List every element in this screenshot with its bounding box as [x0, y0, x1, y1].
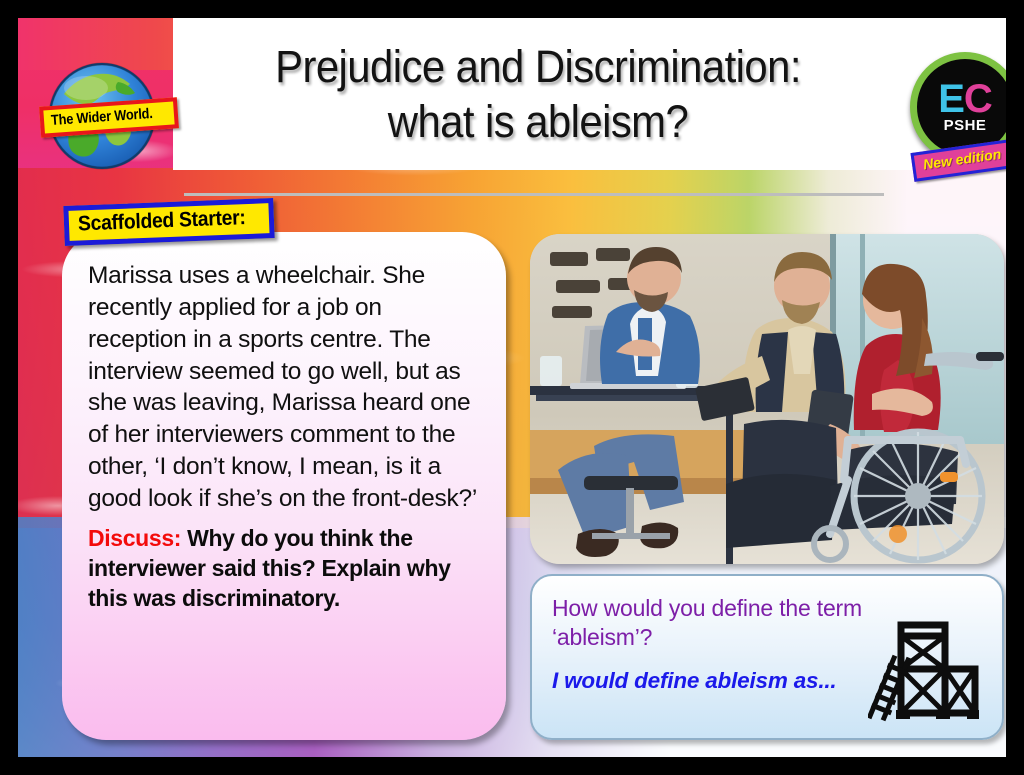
new-edition-label: New edition — [922, 146, 1002, 173]
meeting-photo — [530, 234, 1004, 564]
title-line-2: what is ableism? — [203, 95, 873, 150]
logo-subtitle: PSHE — [944, 117, 987, 134]
scaffolding-icon — [868, 618, 980, 722]
section-label-text: Scaffolded Starter: — [78, 206, 246, 236]
slide-canvas: Prejudice and Discrimination: what is ab… — [18, 18, 1006, 757]
page-title: Prejudice and Discrimination: what is ab… — [203, 40, 873, 150]
title-divider — [184, 193, 884, 196]
define-card: How would you define the term ‘ableism’?… — [530, 574, 1004, 740]
photo-image — [530, 234, 1004, 564]
logo-letter-e: E — [938, 77, 964, 121]
discuss-block: Discuss: Why do you think the interviewe… — [88, 524, 480, 614]
scenario-text: Marissa uses a wheelchair. She recently … — [88, 260, 480, 515]
brand-banner-label: The Wider World. — [51, 106, 154, 129]
define-question: How would you define the term ‘ableism’? — [552, 594, 872, 652]
scenario-card: Marissa uses a wheelchair. She recently … — [62, 232, 506, 740]
discuss-label: Discuss: — [88, 525, 181, 551]
logo-letters: EC — [938, 80, 992, 118]
title-line-1: Prejudice and Discrimination: — [203, 40, 873, 95]
section-label: Scaffolded Starter: — [63, 198, 275, 246]
logo-letter-c: C — [964, 77, 992, 121]
ec-pshe-logo: EC PSHE New edition — [906, 50, 1006, 198]
